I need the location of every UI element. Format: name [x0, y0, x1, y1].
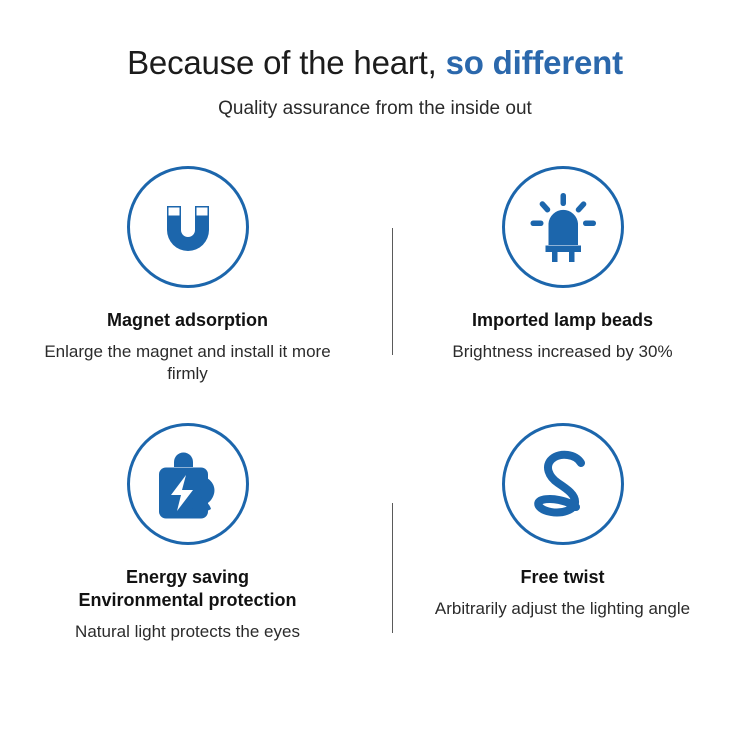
column-divider-bottom — [392, 503, 393, 633]
horseshoe-magnet-icon — [151, 190, 225, 264]
feature-icon-circle — [127, 166, 249, 288]
s-curve-twist-icon — [524, 445, 602, 523]
page-title-plain: Because of the heart, — [127, 44, 437, 81]
page-subtitle: Quality assurance from the inside out — [0, 98, 750, 120]
feature-icon-circle — [502, 166, 624, 288]
feature-card-energy-saving: Energy saving Environmental protection N… — [0, 423, 375, 643]
feature-card-free-twist: Free twist Arbitrarily adjust the lighti… — [375, 423, 750, 643]
page-title-accent: so different — [446, 44, 623, 81]
feature-icon-circle — [502, 423, 624, 545]
page-title: Because of the heart, so different — [0, 44, 750, 82]
feature-grid: Magnet adsorption Enlarge the magnet and… — [0, 166, 750, 643]
feature-card-imported-lamp-beads: Imported lamp beads Brightness increased… — [375, 166, 750, 385]
feature-card-magnet-adsorption: Magnet adsorption Enlarge the magnet and… — [0, 166, 375, 385]
feature-title: Free twist — [520, 566, 604, 589]
page-header: Because of the heart, so different Quali… — [0, 0, 750, 120]
feature-description: Arbitrarily adjust the lighting angle — [435, 598, 690, 620]
feature-description: Brightness increased by 30% — [452, 341, 672, 363]
column-divider-top — [392, 228, 393, 355]
feature-description: Natural light protects the eyes — [75, 621, 300, 643]
feature-title: Magnet adsorption — [107, 309, 268, 332]
led-lamp-bead-icon — [525, 189, 601, 265]
feature-description: Enlarge the magnet and install it more f… — [43, 341, 333, 385]
battery-energy-saving-icon — [149, 445, 227, 523]
feature-title: Energy saving Environmental protection — [78, 566, 296, 612]
feature-icon-circle — [127, 423, 249, 545]
feature-title: Imported lamp beads — [472, 309, 653, 332]
